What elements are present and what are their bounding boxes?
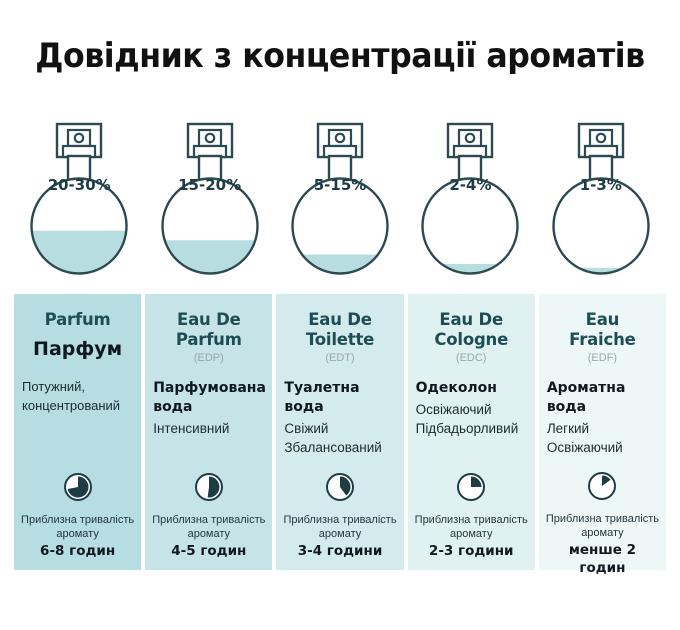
bottle-cell: 1-3% (536, 118, 666, 278)
abbreviation: (EDP) (194, 351, 224, 365)
ukrainian-name: Туалетна вода (282, 379, 397, 417)
duration-label: Приблизна тривалістьаромату (151, 513, 266, 541)
clock-icon-wrap (414, 472, 529, 507)
description: ЛегкийОсвіжаючий (545, 419, 660, 457)
duration-value: 3-4 години (282, 542, 397, 560)
info-columns: Parfum Парфум Потужний,концентрований Пр… (14, 294, 666, 570)
duration-label: Приблизна тривалістьаромату (20, 513, 135, 541)
description: СвіжийЗбалансований (282, 419, 397, 457)
clock-icon-wrap (545, 471, 660, 506)
perfume-bottle-icon (288, 118, 392, 281)
english-name: Eau DeToilette (306, 310, 374, 350)
page-title: Довідник з концентрації ароматів (24, 36, 656, 76)
ukrainian-name: Одеколон (414, 379, 529, 398)
description: Потужний,концентрований (20, 377, 135, 415)
fragrance-column-parfum: Parfum Парфум Потужний,концентрований Пр… (14, 294, 141, 570)
bottle-cell: 5-15% (275, 118, 405, 278)
concentration-label: 1-3% (536, 176, 666, 194)
fragrance-column-eau-de-toilette: Eau DeToilette (EDT) Туалетна вода Свіжи… (276, 294, 403, 570)
concentration-label: 15-20% (144, 176, 274, 194)
english-name: EauFraiche (569, 310, 635, 350)
abbreviation: (EDC) (456, 351, 487, 365)
english-name: Eau DeCologne (434, 310, 508, 350)
concentration-label: 20-30% (14, 176, 144, 194)
perfume-bottle-icon (27, 118, 131, 281)
duration-value: 4-5 годин (151, 542, 266, 560)
duration-label: Приблизна тривалістьаромату (414, 513, 529, 541)
fragrance-column-eau-de-cologne: Eau DeCologne (EDC) Одеколон ОсвіжаючийП… (408, 294, 535, 570)
duration-label: Приблизна тривалістьаромату (545, 512, 660, 540)
clock-two-fifths-icon (325, 472, 355, 507)
description: Інтенсивний (151, 419, 266, 438)
english-name: Eau DeParfum (176, 310, 242, 350)
perfume-bottle-icon (549, 118, 653, 281)
clock-icon-wrap (20, 472, 135, 507)
clock-icon-wrap (151, 472, 266, 507)
fragrance-column-eau-fraiche: EauFraiche (EDF) Ароматна вода ЛегкийОсв… (539, 294, 666, 570)
ukrainian-name: Ароматна вода (545, 379, 660, 417)
duration-value: 2-3 години (414, 542, 529, 560)
bottle-cell: 20-30% (14, 118, 144, 278)
ukrainian-name: Парфум (20, 337, 135, 361)
description: ОсвіжаючийПідбадьорливий (414, 400, 529, 438)
clock-half-icon (194, 472, 224, 507)
bottles-row: 20-30% 15-20% 5-15% 2-4% 1-3% (14, 118, 666, 278)
fragrance-column-eau-de-parfum: Eau DeParfum (EDP) Парфумованавода Інтен… (145, 294, 272, 570)
clock-three-quarters-icon (63, 472, 93, 507)
clock-icon-wrap (282, 472, 397, 507)
duration-value: менше 2 годин (545, 541, 660, 577)
duration-label: Приблизна тривалістьаромату (282, 513, 397, 541)
perfume-bottle-icon (158, 118, 262, 281)
clock-quarter-icon (456, 472, 486, 507)
abbreviation: (EDT) (325, 351, 354, 365)
concentration-label: 2-4% (405, 176, 535, 194)
abbreviation: (EDF) (588, 351, 617, 365)
clock-eighth-icon (587, 471, 617, 506)
ukrainian-name: Парфумованавода (151, 379, 266, 417)
concentration-label: 5-15% (275, 176, 405, 194)
perfume-bottle-icon (418, 118, 522, 281)
bottle-cell: 2-4% (405, 118, 535, 278)
bottle-cell: 15-20% (144, 118, 274, 278)
duration-value: 6-8 годин (20, 542, 135, 560)
english-name: Parfum (45, 310, 111, 330)
